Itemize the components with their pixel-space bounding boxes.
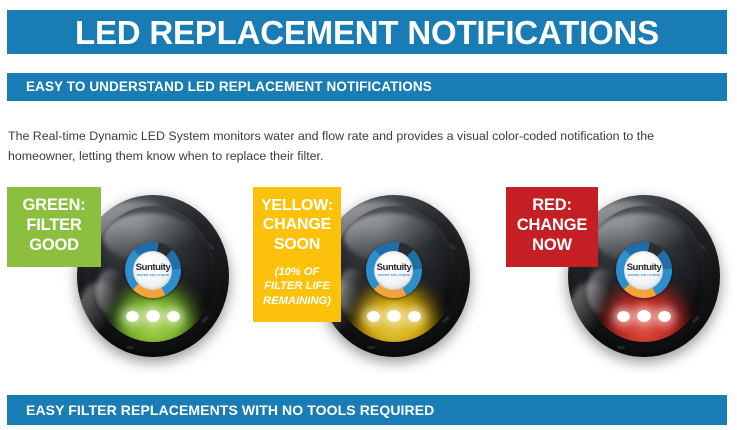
brand-subwordmark: WATER SOLUTIONS (628, 274, 660, 277)
led-dot (167, 311, 180, 322)
page-title-banner: LED REPLACEMENT NOTIFICATIONS (7, 10, 727, 54)
status-card-green: GREEN: FILTER GOOD (0, 170, 245, 370)
led-dot (387, 310, 401, 322)
brand-badge: Suntuity WATER SOLUTIONS (366, 242, 422, 298)
led-indicator-row (367, 310, 421, 322)
status-label-text-green: GREEN: FILTER GOOD (13, 196, 95, 256)
led-dot (617, 311, 630, 322)
device-hinge-tab (568, 299, 575, 312)
status-card-yellow: YELLOW: CHANGE SOON (10% OF FILTER LIFE … (246, 170, 491, 370)
section-subheading: EASY TO UNDERSTAND LED REPLACEMENT NOTIF… (26, 80, 432, 94)
dome-highlight-secondary (96, 269, 126, 315)
brand-wordmark: Suntuity (136, 263, 171, 273)
intro-paragraph: The Real-time Dynamic LED System monitor… (8, 126, 708, 166)
housing-notch (692, 316, 700, 323)
brand-wordmark: Suntuity (627, 263, 662, 273)
housing-notch (201, 316, 209, 323)
brand-subwordmark: WATER SOLUTIONS (378, 274, 410, 277)
housing-notch (367, 346, 375, 349)
status-label-line-3: SOON (259, 235, 335, 254)
status-label-line-1: YELLOW: (259, 196, 335, 215)
status-card-red: RED: CHANGE NOW (492, 170, 737, 370)
dome-highlight-secondary (587, 269, 617, 315)
device-dome: Suntuity WATER SOLUTIONS (332, 206, 457, 342)
device-dome: Suntuity WATER SOLUTIONS (582, 206, 707, 342)
footer-heading: EASY FILTER REPLACEMENTS WITH NO TOOLS R… (26, 403, 434, 417)
status-label-line-2: CHANGE (259, 215, 335, 234)
status-sublabel-yellow: (10% OF FILTER LIFE REMAINING) (259, 265, 335, 308)
status-label-box-yellow: YELLOW: CHANGE SOON (10% OF FILTER LIFE … (253, 187, 341, 322)
brand-badge-inner: Suntuity WATER SOLUTIONS (624, 251, 663, 290)
dome-highlight-secondary (337, 269, 367, 315)
housing-notch (126, 346, 134, 349)
status-label-line-2: CHANGE (512, 216, 592, 236)
brand-subwordmark: WATER SOLUTIONS (137, 274, 169, 277)
led-dot (658, 311, 671, 322)
brand-badge: Suntuity WATER SOLUTIONS (616, 242, 672, 298)
led-dot (637, 310, 651, 322)
status-label-line-1: RED: (512, 196, 592, 216)
status-label-line-3: NOW (512, 236, 592, 256)
brand-badge-inner: Suntuity WATER SOLUTIONS (133, 251, 172, 290)
brand-badge-inner: Suntuity WATER SOLUTIONS (374, 251, 413, 290)
led-indicator-row (617, 310, 671, 322)
brand-badge: Suntuity WATER SOLUTIONS (125, 242, 181, 298)
led-dot (126, 311, 139, 322)
led-dot (146, 310, 160, 322)
footer-banner: EASY FILTER REPLACEMENTS WITH NO TOOLS R… (7, 395, 727, 425)
status-label-box-red: RED: CHANGE NOW (506, 187, 598, 267)
status-label-line-1: GREEN: (13, 196, 95, 216)
section-subheading-banner: EASY TO UNDERSTAND LED REPLACEMENT NOTIF… (7, 73, 727, 101)
brand-wordmark: Suntuity (377, 263, 412, 273)
led-dot (408, 311, 421, 322)
status-label-line-3: GOOD (13, 236, 95, 256)
housing-notch (617, 346, 625, 349)
led-indicator-row (126, 310, 180, 322)
device-hinge-tab (77, 299, 84, 312)
status-card-group: GREEN: FILTER GOOD (0, 170, 737, 370)
page-title: LED REPLACEMENT NOTIFICATIONS (75, 16, 659, 49)
status-label-text-yellow: YELLOW: CHANGE SOON (259, 196, 335, 254)
status-label-box-green: GREEN: FILTER GOOD (7, 187, 101, 267)
status-label-text-red: RED: CHANGE NOW (512, 196, 592, 256)
device-dome: Suntuity WATER SOLUTIONS (91, 206, 216, 342)
housing-notch (442, 316, 450, 323)
status-label-line-2: FILTER (13, 216, 95, 236)
led-dot (367, 311, 380, 322)
